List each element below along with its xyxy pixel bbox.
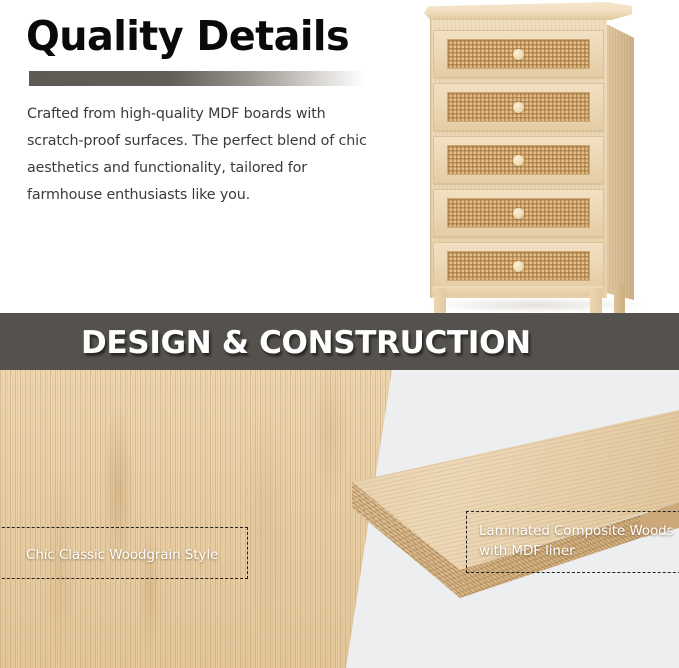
dresser-apron: [432, 286, 603, 296]
dresser-product-image: [418, 0, 658, 330]
dresser-drawer: [433, 83, 604, 131]
page-title: Quality Details: [26, 12, 349, 60]
section-banner: DESIGN & CONSTRUCTION: [0, 313, 679, 370]
dresser-shadow: [428, 297, 643, 313]
drawer-knob-icon: [513, 102, 524, 113]
drawer-knob-icon: [513, 49, 524, 60]
gradient-divider: [29, 71, 365, 86]
callout-label-woodgrain: Chic Classic Woodgrain Style: [26, 545, 218, 565]
dresser-drawer: [433, 189, 604, 237]
banner-title: DESIGN & CONSTRUCTION: [81, 325, 531, 361]
product-feature-image: Quality Details Crafted from high-qualit…: [0, 0, 679, 668]
dresser-drawer: [433, 242, 604, 290]
dresser-drawer: [433, 30, 604, 78]
callout-label-mdf: Laminated Composite Woods with MDF liner: [479, 521, 674, 561]
drawer-knob-icon: [513, 261, 524, 272]
dresser-drawer: [433, 136, 604, 184]
drawer-knob-icon: [513, 208, 524, 219]
dresser-top-surface: [424, 2, 632, 20]
quality-details-section: Quality Details Crafted from high-qualit…: [0, 0, 679, 313]
drawer-knob-icon: [513, 155, 524, 166]
intro-paragraph: Crafted from high-quality MDF boards wit…: [27, 101, 367, 209]
